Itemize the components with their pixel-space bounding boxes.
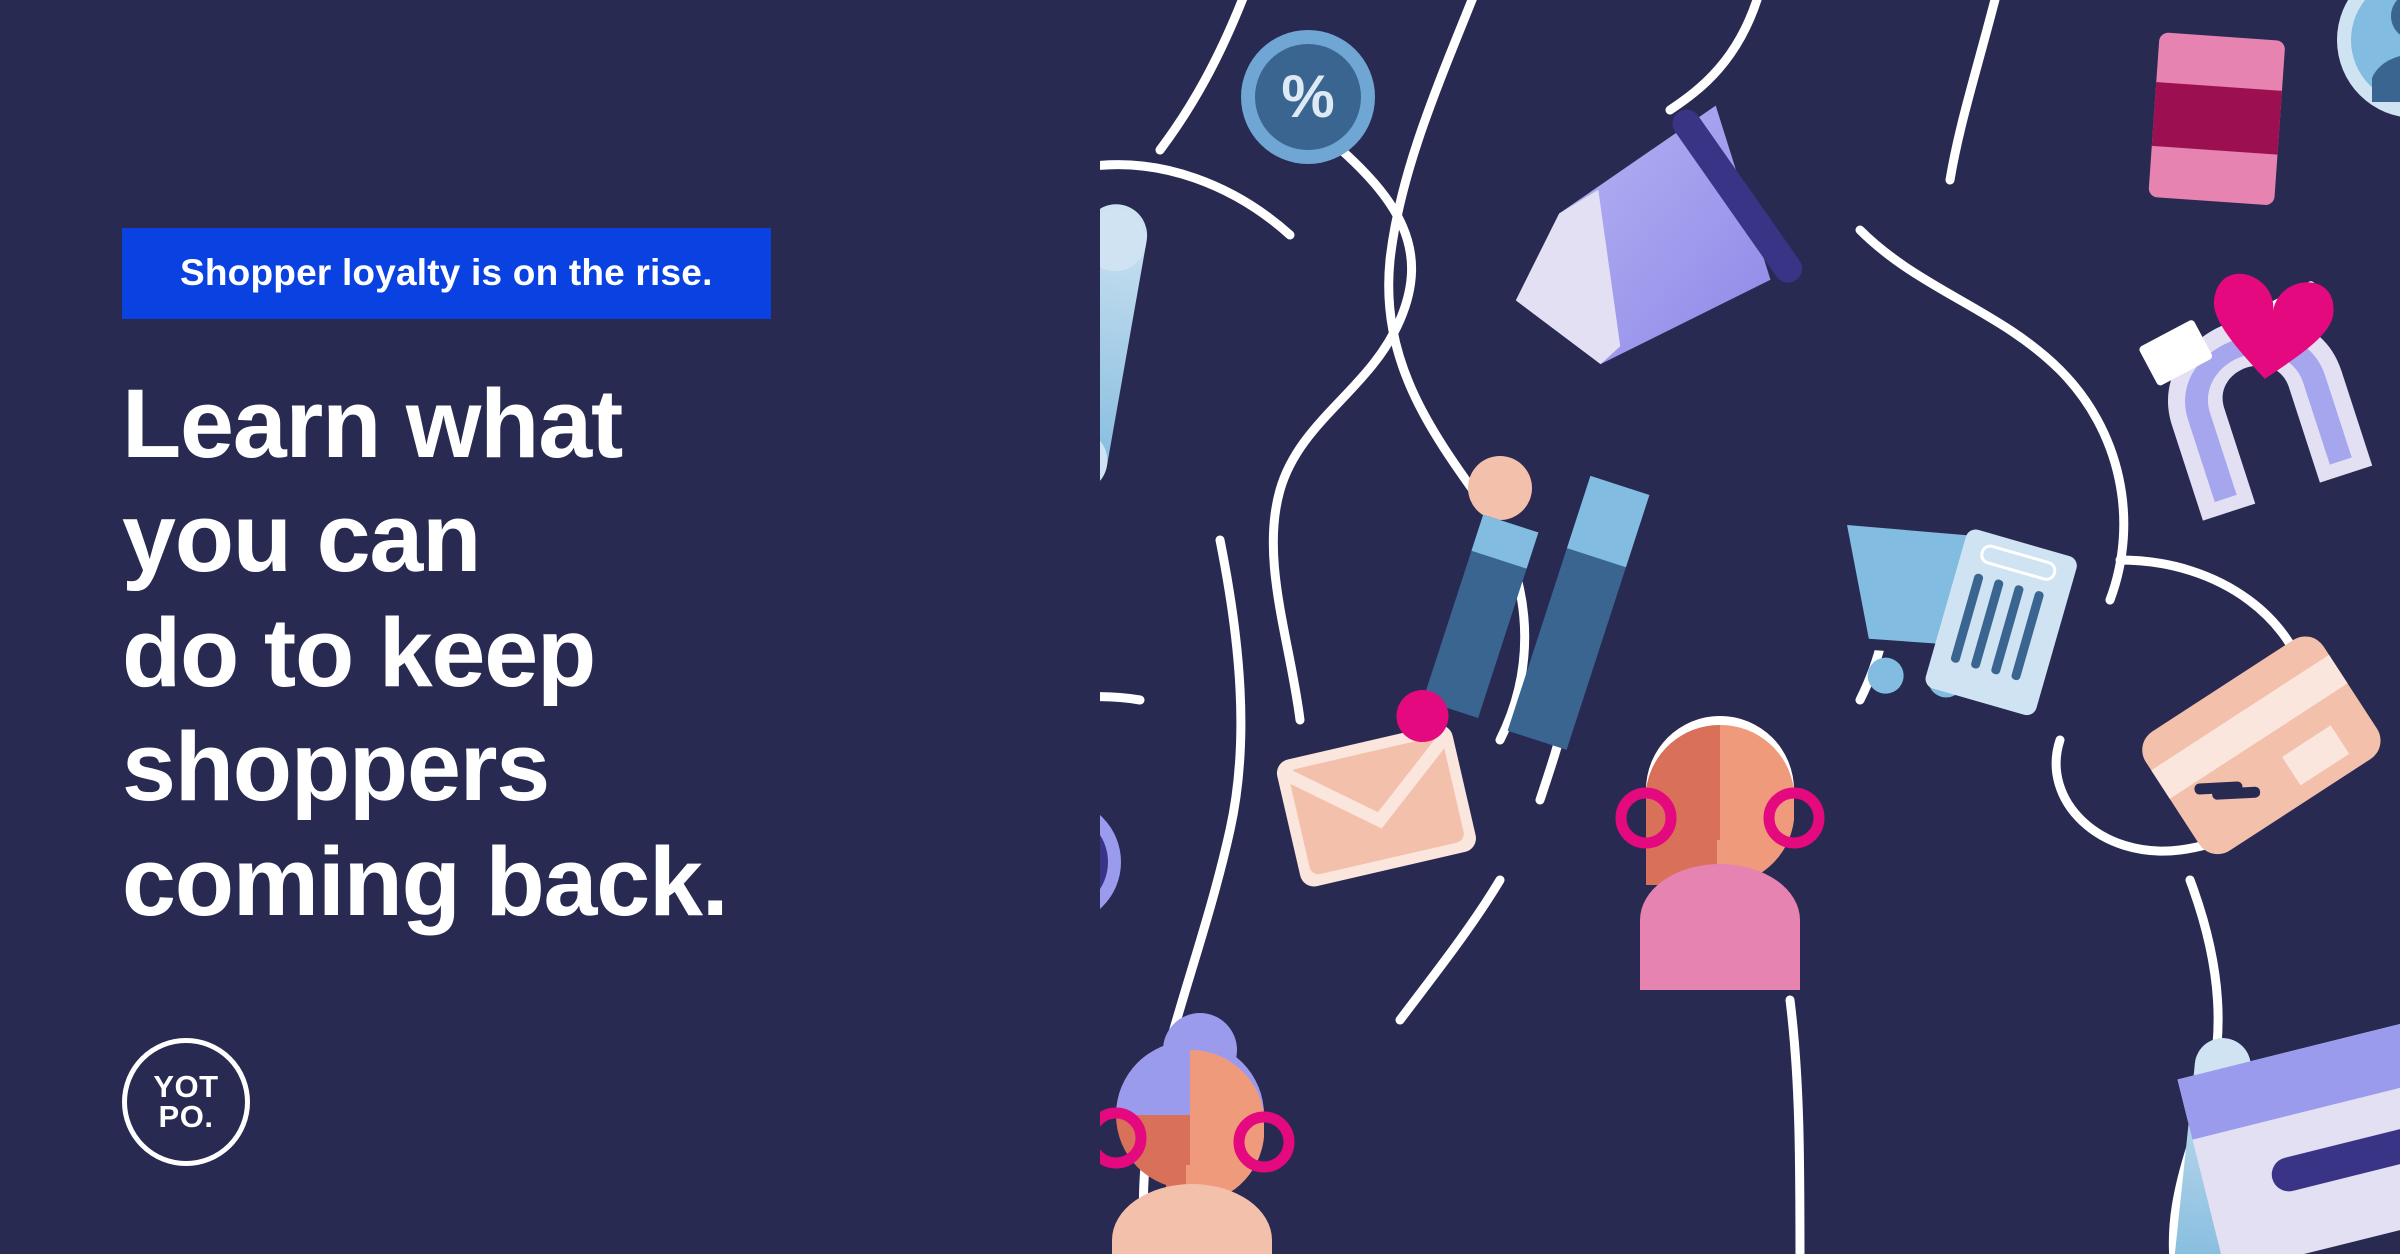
logo-line-2: PO. xyxy=(159,1102,214,1132)
headline-line-2: do to keep shoppers xyxy=(122,598,595,821)
logo-line-1: YOT xyxy=(153,1072,218,1102)
bead-chain-icon xyxy=(1100,155,1532,520)
page-title: Learn what you can do to keep shoppers c… xyxy=(122,367,742,939)
avatar-white-hair xyxy=(1621,716,1819,990)
yotpo-logo: YOT PO. xyxy=(122,1038,250,1166)
megaphone-icon xyxy=(1492,91,1816,374)
svg-text:%: % xyxy=(1281,63,1334,130)
eyebrow-highlight-bar: Shopper loyalty is on the rise. xyxy=(122,228,771,319)
eyebrow-text: Shopper loyalty is on the rise. xyxy=(180,254,713,291)
bar-chart-columns-icon xyxy=(1422,448,1649,750)
price-tag-icon xyxy=(2148,32,2285,205)
credit-card-icon xyxy=(2134,628,2389,863)
marketing-banner: % xyxy=(0,0,2400,1254)
headline-line-1: Learn what you can xyxy=(122,369,622,592)
headline-line-3: coming back. xyxy=(122,827,728,936)
illustration-artwork: % xyxy=(1100,0,2400,1254)
avatar-badge-icon xyxy=(2337,0,2400,118)
copy-block: Shopper loyalty is on the rise. Learn wh… xyxy=(122,228,1122,939)
percent-badge-icon: % xyxy=(1241,30,1375,164)
avatar-bun-hair xyxy=(1100,1013,1289,1254)
magnet-heart-icon xyxy=(2123,237,2393,523)
